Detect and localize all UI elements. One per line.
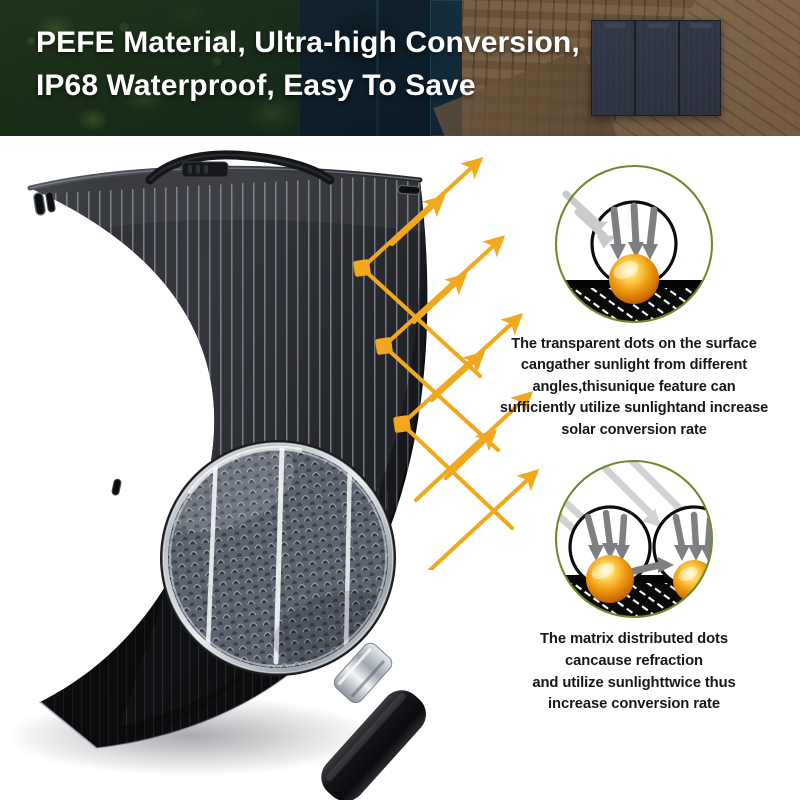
callout-1-line-3: angles,thisunique feature can xyxy=(476,377,792,398)
callout-1-line-4: sufficiently utilize sunlightand increas… xyxy=(476,398,792,419)
product-feature-infographic: PEFE Material, Ultra-high Conversion, IP… xyxy=(0,0,800,800)
panel-side-connector xyxy=(111,479,121,496)
magnifier-handle xyxy=(313,640,434,800)
banner-headline: PEFE Material, Ultra-high Conversion, IP… xyxy=(36,22,776,107)
callout-2-line-4: increase conversion rate xyxy=(476,694,792,716)
header-banner: PEFE Material, Ultra-high Conversion, IP… xyxy=(0,0,800,136)
single-dome-refraction-diagram xyxy=(548,160,720,328)
callout-1-line-1: The transparent dots on the surface xyxy=(476,334,792,355)
banner-headline-line-1: PEFE Material, Ultra-high Conversion, xyxy=(36,22,776,65)
callout-2-line-1: The matrix distributed dots xyxy=(476,629,792,651)
callout-2-line-2: cancause refraction xyxy=(476,651,792,673)
callout-2-line-3: and utilize sunlighttwice thus xyxy=(476,673,792,695)
callout-1-text: The transparent dots on the surface cang… xyxy=(468,334,800,441)
dual-dome-refraction-diagram xyxy=(548,455,720,623)
callout-1-line-2: cangather sunlight from different xyxy=(476,355,792,376)
callout-matrix-dots: The matrix distributed dots cancause ref… xyxy=(468,455,800,716)
callout-transparent-dots: The transparent dots on the surface cang… xyxy=(468,160,800,441)
panel-grommet-left xyxy=(33,191,55,215)
callout-2-text: The matrix distributed dots cancause ref… xyxy=(468,629,800,716)
callout-1-line-5: solar conversion rate xyxy=(476,420,792,441)
banner-headline-line-2: IP68 Waterproof, Easy To Save xyxy=(36,65,776,108)
